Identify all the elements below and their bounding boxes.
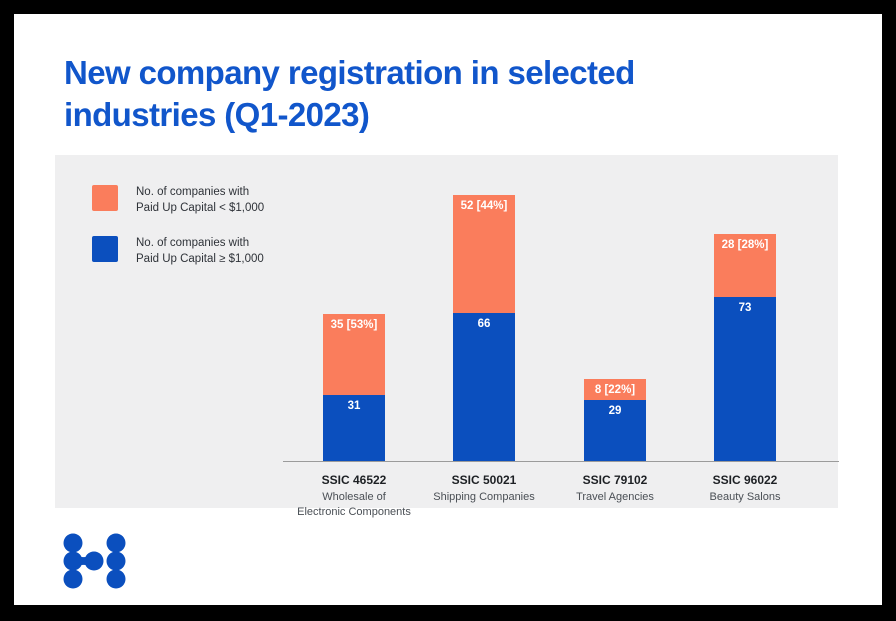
bar-label-upper: 28 [28%] [714,239,776,251]
clipped-fragment-3: · [270,14,274,17]
slide-canvas: · · · New company registration in select… [14,14,882,605]
category-code: SSIC 96022 [669,473,821,487]
bar-label-lower: 73 [714,302,776,314]
bar-label-lower: 29 [584,405,646,417]
plot-area: 35 [53%] 31 SSIC 46522 Wholesale of Elec… [55,155,838,508]
bar-segment-upper: 35 [53%] [323,314,385,395]
bar-label-upper: 52 [44%] [453,200,515,212]
category-code: SSIC 50021 [408,473,560,487]
chart-panel: No. of companies with Paid Up Capital < … [55,155,838,508]
category-name: Shipping Companies [408,490,560,505]
bar-segment-lower: 73 [714,297,776,461]
bar-label-lower: 66 [453,318,515,330]
category-name: Beauty Salons [669,490,821,505]
clipped-fragment-1: · [194,14,198,17]
logo-dots-icon [60,532,130,590]
bar-group-0: 35 [53%] 31 SSIC 46522 Wholesale of Elec… [323,314,385,461]
company-logo [60,532,130,590]
bar-segment-lower: 29 [584,400,646,461]
bar-segment-upper: 8 [22%] [584,379,646,400]
bar-segment-upper: 52 [44%] [453,195,515,313]
clipped-fragment-2: · [232,14,236,17]
bar-group-3: 28 [28%] 73 SSIC 96022 Beauty Salons [714,234,776,461]
bar-label-upper: 35 [53%] [323,319,385,331]
bar-label-lower: 31 [323,400,385,412]
bar-segment-lower: 31 [323,395,385,461]
x-axis-category-label: SSIC 96022 Beauty Salons [669,461,821,505]
clipped-top-text: · · · [14,14,882,19]
page-title: New company registration in selected ind… [64,52,784,136]
bar-group-2: 8 [22%] 29 SSIC 79102 Travel Agencies [584,379,646,461]
bar-label-upper: 8 [22%] [584,384,646,396]
bar-group-1: 52 [44%] 66 SSIC 50021 Shipping Companie… [453,195,515,461]
x-axis-category-label: SSIC 50021 Shipping Companies [408,461,560,505]
bar-segment-lower: 66 [453,313,515,461]
bar-segment-upper: 28 [28%] [714,234,776,297]
